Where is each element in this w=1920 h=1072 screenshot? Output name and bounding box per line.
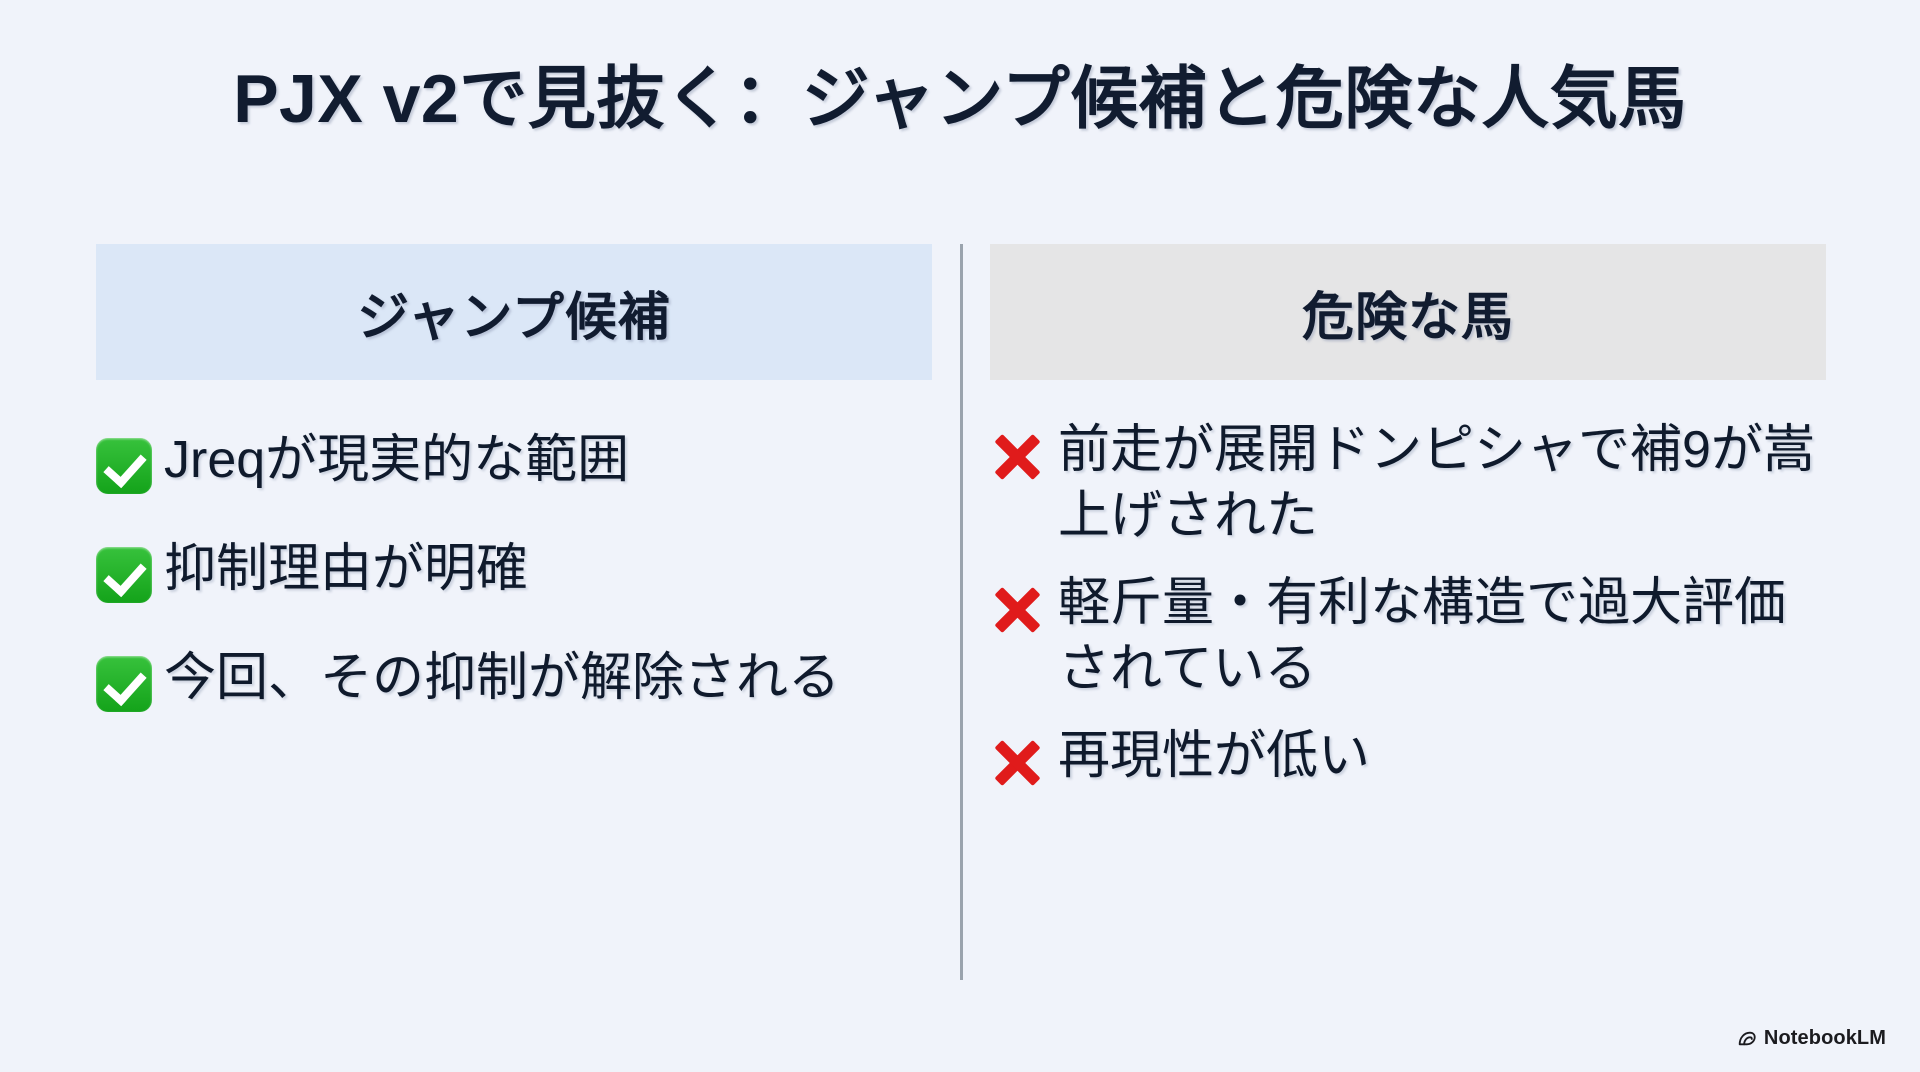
- slide-canvas: PJX v2で見抜く：ジャンプ候補と危険な人気馬 ジャンプ候補 Jreqが現実的…: [0, 0, 1920, 1072]
- list-item: Jreqが現実的な範囲: [96, 428, 932, 511]
- notebooklm-label: NotebookLM: [1764, 1027, 1886, 1050]
- list-item: 抑制理由が明確: [96, 537, 932, 620]
- jump-candidates-list: Jreqが現実的な範囲 抑制理由が明確 今回、その抑制が解除される: [96, 428, 932, 729]
- check-icon: [96, 428, 164, 511]
- notebooklm-logo-icon: [1736, 1028, 1757, 1049]
- list-item: 今回、その抑制が解除される: [96, 646, 932, 729]
- cross-icon: [990, 418, 1058, 501]
- check-icon: [96, 646, 164, 729]
- list-item-label: 軽斤量・有利な構造で過大評価されている: [1058, 571, 1826, 702]
- list-item-label: Jreqが現実的な範囲: [164, 428, 932, 494]
- column-header-dangerous-horses: 危険な馬: [990, 244, 1826, 380]
- dangerous-horses-list: 前走が展開ドンピシャで補9が嵩上げされた 軽斤量・有利な構造で過大評価されている…: [990, 418, 1826, 807]
- notebooklm-watermark: NotebookLM: [1736, 1027, 1886, 1050]
- list-item: 軽斤量・有利な構造で過大評価されている: [990, 571, 1826, 702]
- cross-icon: [990, 571, 1058, 654]
- column-header-jump-candidates: ジャンプ候補: [96, 244, 932, 380]
- two-column-body: ジャンプ候補 Jreqが現実的な範囲 抑制理由が明確 今回、その抑制が解除される…: [0, 244, 1920, 1004]
- cross-icon: [990, 724, 1058, 807]
- list-item-label: 前走が展開ドンピシャで補9が嵩上げされた: [1058, 418, 1826, 549]
- list-item: 前走が展開ドンピシャで補9が嵩上げされた: [990, 418, 1826, 549]
- list-item-label: 再現性が低い: [1058, 724, 1826, 790]
- column-divider: [960, 244, 963, 980]
- check-icon: [96, 537, 164, 620]
- column-dangerous-horses: 危険な馬 前走が展開ドンピシャで補9が嵩上げされた 軽斤量・有利な構造で過大評価…: [990, 244, 1826, 829]
- list-item: 再現性が低い: [990, 724, 1826, 807]
- column-jump-candidates: ジャンプ候補 Jreqが現実的な範囲 抑制理由が明確 今回、その抑制が解除される: [96, 244, 932, 755]
- list-item-label: 今回、その抑制が解除される: [164, 646, 932, 712]
- list-item-label: 抑制理由が明確: [164, 537, 932, 603]
- page-title: PJX v2で見抜く：ジャンプ候補と危険な人気馬: [0, 62, 1920, 137]
